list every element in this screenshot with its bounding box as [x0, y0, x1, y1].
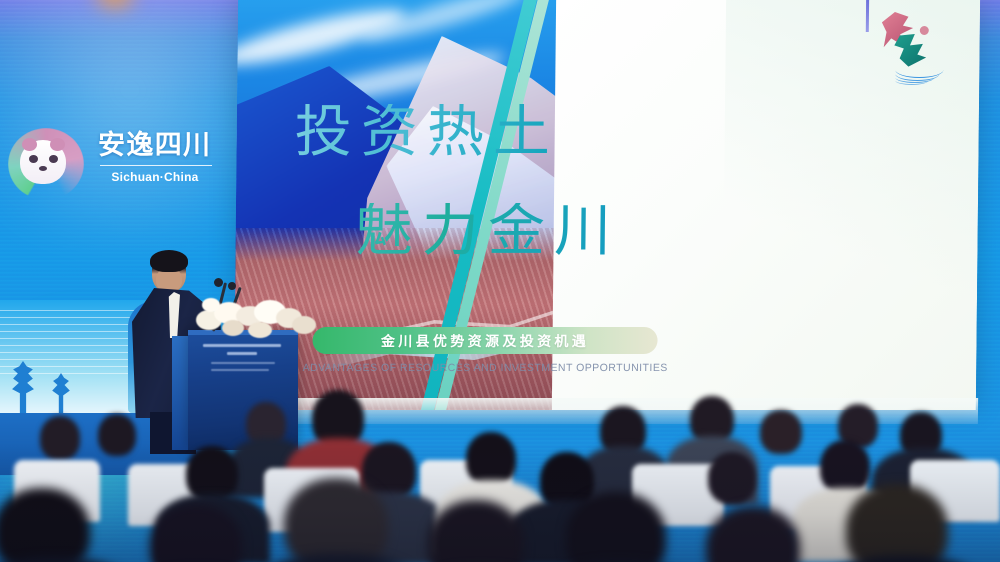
brand-logo-chinese: 安逸四川 — [98, 132, 218, 159]
slide-headline: 投资热土 魅力金川 — [293, 104, 655, 260]
conference-photo-scene: 安逸四川 Sichuan·China — [0, 0, 1000, 562]
emblem-wave-lines — [895, 60, 945, 86]
headline-line-1: 投资热土 — [294, 104, 655, 161]
microphone-head — [228, 282, 236, 290]
presentation-slide: 投资热土 魅力金川 金川县优势资源及投资机遇 ADVANTAGES OF RES… — [234, 0, 980, 410]
headline-line-2: 魅力金川 — [355, 203, 654, 260]
brand-logo-english: Sichuan·China — [98, 170, 212, 184]
sichuan-brand-logo: 安逸四川 Sichuan·China — [6, 120, 221, 210]
speaker-hair — [150, 250, 188, 272]
slide-subtitle-banner: 金川县优势资源及投资机遇 — [312, 327, 657, 354]
panda-swirl-emblem — [6, 122, 90, 206]
microphone-head — [214, 278, 223, 287]
audience-depth-haze — [0, 442, 1000, 562]
flower-arrangement — [192, 296, 320, 342]
slide-accent-tick — [866, 0, 869, 32]
emblem-dot — [920, 26, 929, 35]
jinchuan-calligraphy-emblem — [871, 8, 946, 86]
brand-logo-rule — [100, 165, 212, 166]
slide-subtitle-banner-text: 金川县优势资源及投资机遇 — [381, 331, 590, 351]
audience-area — [0, 368, 1000, 562]
